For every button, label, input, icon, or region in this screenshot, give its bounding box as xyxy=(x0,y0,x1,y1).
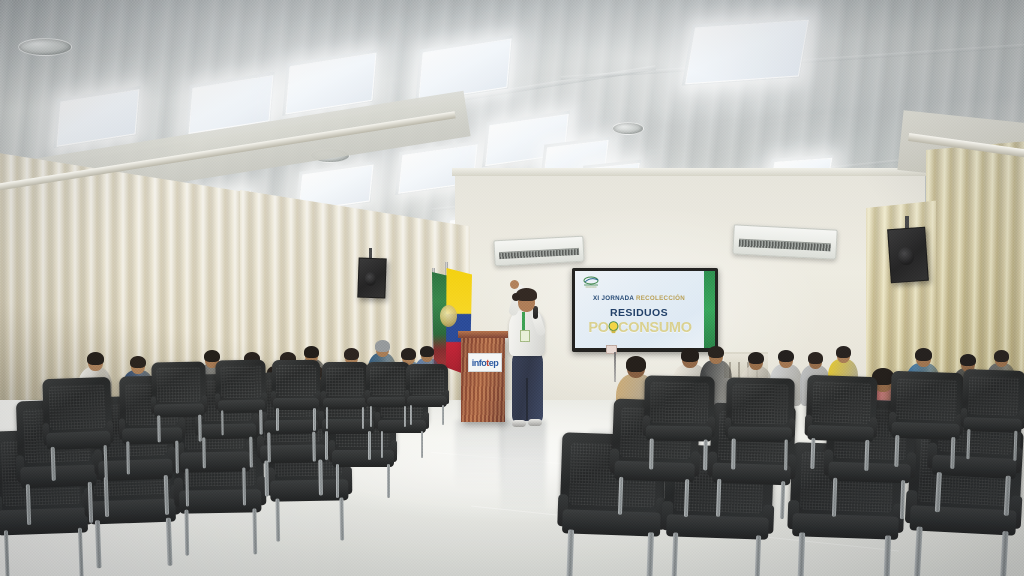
chair-seat xyxy=(154,404,205,418)
chair-seat xyxy=(323,398,366,409)
conference-room-photo: XI JORNADA RECOLECCIÓN RESIDUOS POSCONSU… xyxy=(0,0,1024,576)
chair-leg xyxy=(185,469,189,507)
audience-hair xyxy=(344,348,359,360)
chair-seat xyxy=(891,422,959,440)
chair-leg xyxy=(1000,531,1008,576)
audience-hair xyxy=(87,352,104,365)
audience-hair xyxy=(778,350,794,362)
chair-seat xyxy=(963,416,1022,433)
chair-leg xyxy=(716,479,722,517)
chair-leg xyxy=(77,528,84,576)
chair-backrest xyxy=(42,377,112,437)
chair-leg xyxy=(202,437,206,468)
chair-leg xyxy=(1004,475,1011,516)
presenter-lanyard xyxy=(522,312,525,331)
audience-hair xyxy=(960,354,976,366)
presenter-hair-bun xyxy=(512,293,520,301)
chair-leg xyxy=(325,431,328,460)
chair[interactable] xyxy=(725,377,795,468)
chair-backrest xyxy=(726,377,795,430)
chair-seat xyxy=(792,513,898,539)
presenter xyxy=(500,286,556,434)
chair-leg xyxy=(895,435,900,467)
chair-leg xyxy=(126,442,130,475)
chair-leg xyxy=(26,484,31,526)
chair-leg xyxy=(780,481,786,519)
chair-backrest xyxy=(272,360,320,401)
slide-line-3: POSCONSUMO xyxy=(575,320,705,336)
chair-leg xyxy=(250,436,254,467)
chair-leg xyxy=(252,508,257,554)
slide-content: XI JORNADA RECOLECCIÓN RESIDUOS POSCONSU… xyxy=(575,271,715,348)
ceiling-speaker xyxy=(18,38,72,56)
lightbulb-icon xyxy=(607,321,620,335)
chair[interactable] xyxy=(151,362,206,441)
chair-seat xyxy=(646,425,712,442)
chair-seat xyxy=(46,431,110,450)
chair-seat xyxy=(807,425,873,443)
chair[interactable] xyxy=(960,369,1024,459)
chair-leg xyxy=(410,405,412,425)
chair-leg xyxy=(339,497,344,540)
chair-backrest xyxy=(406,364,448,399)
chair-leg xyxy=(88,482,93,524)
chair-leg xyxy=(950,437,955,469)
chair-leg xyxy=(276,498,281,541)
chair-seat xyxy=(666,514,768,540)
chair-leg xyxy=(103,445,108,479)
presenter-id-badge xyxy=(520,330,530,342)
chair-leg xyxy=(832,478,838,518)
chair-leg xyxy=(326,407,328,429)
audience-hair xyxy=(626,356,646,372)
chair-leg xyxy=(199,415,202,442)
chair-leg xyxy=(312,431,315,461)
chair-leg xyxy=(157,415,160,442)
chair-leg xyxy=(184,510,189,556)
chair-seat xyxy=(218,400,265,413)
audience-hair xyxy=(708,346,724,358)
chair-leg xyxy=(259,410,262,435)
chair[interactable] xyxy=(366,362,410,426)
chair-backrest xyxy=(322,362,368,400)
chair-leg xyxy=(381,431,384,458)
chair-leg xyxy=(104,477,109,517)
presenter-shoe xyxy=(512,420,526,427)
chair-leg xyxy=(313,408,315,432)
floor-reflection xyxy=(455,420,503,490)
chair[interactable] xyxy=(804,375,877,469)
chair-leg xyxy=(442,405,444,425)
floor-reflection xyxy=(500,420,546,515)
chair-backrest xyxy=(890,371,964,428)
audience-hair xyxy=(748,352,764,364)
chair-backrest xyxy=(806,375,878,431)
air-conditioner xyxy=(493,236,584,267)
chair-leg xyxy=(798,532,805,576)
chair-leg xyxy=(649,438,653,469)
chair-leg xyxy=(884,535,891,576)
audience-hair xyxy=(304,346,319,358)
chair-leg xyxy=(336,464,339,498)
chair-backrest xyxy=(366,362,410,399)
podium-logo: infotep xyxy=(468,353,502,372)
microphone xyxy=(533,306,538,319)
chair-leg xyxy=(175,441,179,474)
chair-leg xyxy=(319,460,323,496)
chair-leg xyxy=(684,479,690,518)
audience-hair xyxy=(915,348,932,361)
chair-backrest xyxy=(215,360,266,404)
slide-accent-band xyxy=(704,271,715,348)
presenter-shoe xyxy=(528,419,542,426)
chair-leg xyxy=(387,464,390,498)
slide-line-1: XI JORNADA RECOLECCIÓN xyxy=(575,295,703,302)
chair-leg xyxy=(164,475,169,515)
chair-leg xyxy=(166,518,172,566)
chair-leg xyxy=(1014,431,1018,461)
chair-leg xyxy=(421,431,424,458)
chair-leg xyxy=(900,480,906,520)
chair-leg xyxy=(618,476,624,515)
chair-leg xyxy=(4,530,11,576)
institution-logo xyxy=(581,275,609,290)
chair-leg xyxy=(362,407,364,429)
ac-vent xyxy=(739,238,831,251)
chair-leg xyxy=(731,439,735,470)
chair-seat xyxy=(728,426,792,442)
chair-leg xyxy=(276,408,278,432)
audience-hair xyxy=(375,340,390,352)
chair-leg xyxy=(865,439,870,470)
chair-leg xyxy=(265,461,269,497)
ceiling-light xyxy=(685,20,809,85)
chair-leg xyxy=(703,439,707,470)
audience-hair xyxy=(420,346,434,357)
chair[interactable] xyxy=(322,362,368,428)
chair-leg xyxy=(221,411,224,436)
chair[interactable] xyxy=(888,371,963,467)
chair-seat xyxy=(367,397,408,408)
chair[interactable] xyxy=(42,377,113,479)
slide-line-2: RESIDUOS xyxy=(575,307,703,319)
chair-leg xyxy=(567,529,574,576)
ceiling-speaker xyxy=(612,122,644,135)
chair-leg xyxy=(671,533,678,576)
audience-hair xyxy=(994,350,1009,362)
chair-leg xyxy=(935,472,942,513)
chair[interactable] xyxy=(406,364,448,424)
audience-hair xyxy=(681,348,699,362)
presentation-display[interactable]: XI JORNADA RECOLECCIÓN RESIDUOS POSCONSU… xyxy=(572,268,718,352)
chair-leg xyxy=(966,429,970,459)
ac-vent xyxy=(499,248,578,259)
chair[interactable] xyxy=(643,375,715,468)
wall-cornice xyxy=(452,168,928,176)
chair[interactable] xyxy=(272,360,320,430)
audience-hair xyxy=(808,352,823,364)
chair-seat xyxy=(407,396,446,406)
podium: infotep xyxy=(461,336,505,422)
chair[interactable] xyxy=(215,360,266,435)
chair-leg xyxy=(811,438,816,469)
audience-hair xyxy=(130,356,146,368)
chair-leg xyxy=(51,447,56,481)
audience-hair xyxy=(836,346,851,358)
chair-leg xyxy=(370,406,372,428)
chair-leg xyxy=(95,520,101,568)
chair-leg xyxy=(647,532,654,576)
chair-leg xyxy=(368,431,371,460)
chair-leg xyxy=(755,536,762,576)
chair-backrest xyxy=(962,369,1024,422)
chair-backrest xyxy=(644,375,715,430)
chair-leg xyxy=(242,468,246,506)
presenter-hand xyxy=(510,280,519,289)
chair-leg xyxy=(784,440,788,471)
chair-leg xyxy=(267,432,270,462)
chair-backrest xyxy=(151,362,206,408)
chair-seat xyxy=(273,398,318,410)
wall-speaker xyxy=(357,258,386,299)
flag-emblem xyxy=(440,305,457,327)
presenter-leg-seam xyxy=(526,378,528,420)
wall-speaker xyxy=(887,227,929,284)
air-conditioner xyxy=(732,224,837,259)
chair-leg xyxy=(914,526,922,576)
